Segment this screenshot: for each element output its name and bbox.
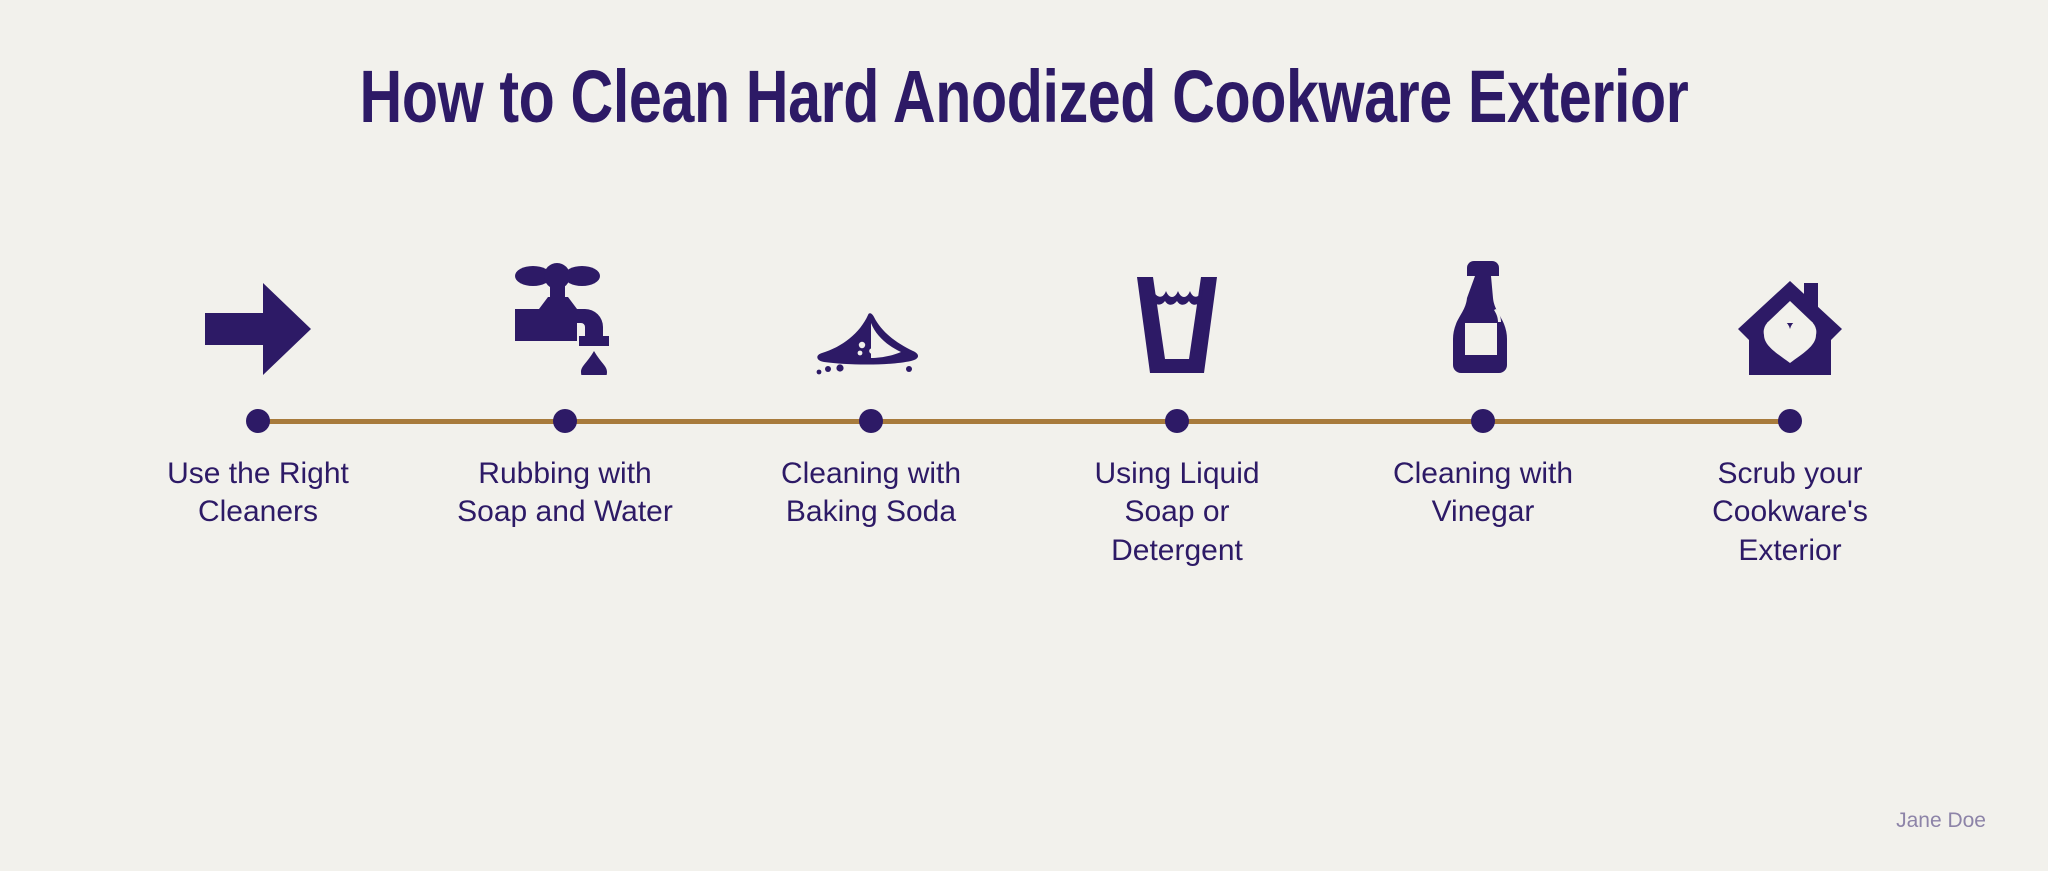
timeline-dot-3 <box>859 409 883 433</box>
timeline-step-2[interactable]: Rubbing with Soap and Water <box>435 250 695 532</box>
timeline-step-1[interactable]: Use the Right Cleaners <box>128 250 388 532</box>
powder-pile-icon <box>741 250 1001 375</box>
timeline-step-4-label: Using Liquid Soap or Detergent <box>1047 455 1307 570</box>
timeline-step-2-label: Rubbing with Soap and Water <box>435 455 695 532</box>
timeline-step-4[interactable]: Using Liquid Soap or Detergent <box>1047 250 1307 570</box>
timeline-dot-5 <box>1471 409 1495 433</box>
arrow-right-icon <box>128 250 388 375</box>
timeline-step-3-label: Cleaning with Baking Soda <box>741 455 1001 532</box>
timeline-dot-4 <box>1165 409 1189 433</box>
timeline-step-3[interactable]: Cleaning with Baking Soda <box>741 250 1001 532</box>
timeline-step-6[interactable]: Scrub your Cookware's Exterior <box>1660 250 1920 570</box>
timeline-step-5-label: Cleaning with Vinegar <box>1353 455 1613 532</box>
bottle-icon <box>1353 250 1613 375</box>
timeline-diagram: Use the Right Cleaners <box>0 0 2048 871</box>
faucet-icon <box>435 250 695 375</box>
timeline-step-1-label: Use the Right Cleaners <box>128 455 388 532</box>
timeline-dot-2 <box>553 409 577 433</box>
house-heart-icon <box>1660 250 1920 375</box>
timeline-step-6-label: Scrub your Cookware's Exterior <box>1660 455 1920 570</box>
timeline-dot-1 <box>246 409 270 433</box>
timeline-dot-6 <box>1778 409 1802 433</box>
water-glass-icon <box>1047 250 1307 375</box>
timeline-step-5[interactable]: Cleaning with Vinegar <box>1353 250 1613 532</box>
attribution-label: Jane Doe <box>1896 809 1986 833</box>
